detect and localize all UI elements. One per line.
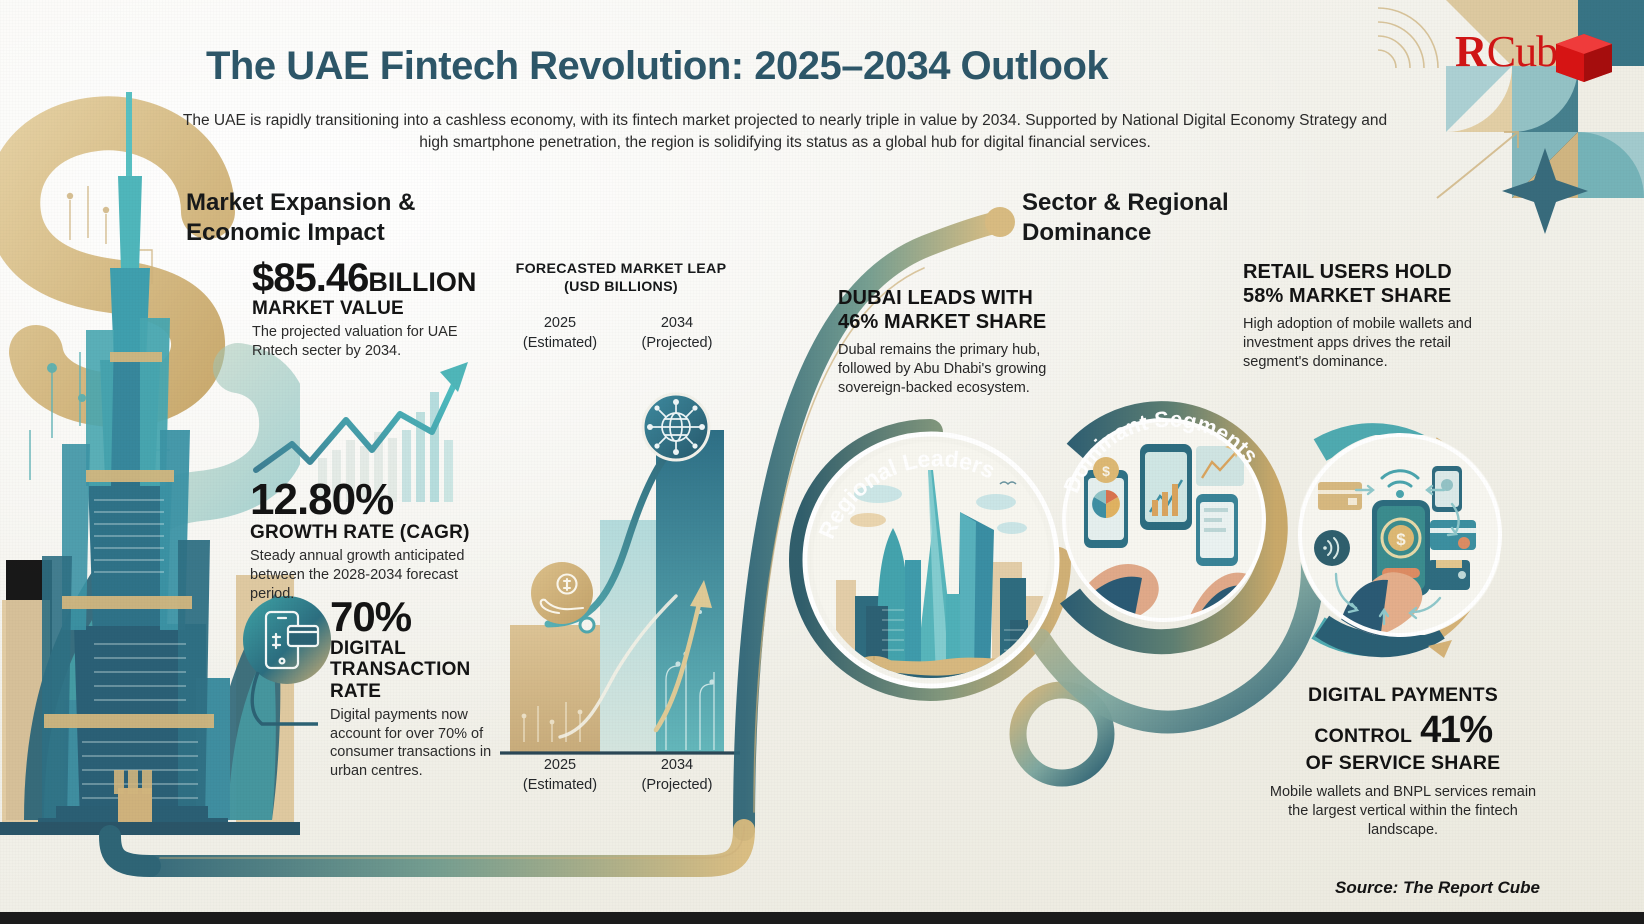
infographic-canvas: $ [0, 0, 1644, 924]
card-retail-users: RETAIL USERS HOLD 58% MARKET SHARE High … [1243, 260, 1493, 372]
chart-title: FORECASTED MARKET LEAP (USD BILLIONS) [500, 260, 742, 296]
stat-digital-rate-label-1: DIGITAL [330, 638, 520, 659]
red-cube-icon [1456, 26, 1626, 96]
bottom-bar [0, 912, 1644, 924]
ring-digital-payments: $ [1300, 435, 1500, 658]
card-payments-percent: 41% [1420, 709, 1492, 752]
chart-axis-label-2025: 2025 (Estimated) [500, 755, 620, 795]
coin-in-hand-icon [531, 562, 593, 624]
page-title: The UAE Fintech Revolution: 2025–2034 Ou… [206, 44, 1376, 89]
section-heading-market-expansion: Market Expansion & Economic Impact [186, 188, 516, 248]
stat-market-value-desc: The projected valuation for UAE Rntech s… [252, 323, 492, 361]
card-dubai-desc: Dubal remains the primary hub, followed … [838, 341, 1088, 398]
card-dubai-head-2: 46% MARKET SHARE [838, 310, 1088, 334]
ring-label-regional-leaders: Regional Leaders [813, 445, 999, 542]
card-dubai-market-share: DUBAI LEADS WITH 46% MARKET SHARE Dubal … [838, 286, 1088, 398]
svg-text:Regional Leaders: Regional Leaders [813, 445, 999, 542]
card-retail-desc: High adoption of mobile wallets and inve… [1243, 315, 1493, 372]
ring-regional-leaders [805, 434, 1057, 702]
stat-digital-rate-desc: Digital payments now account for over 70… [330, 706, 520, 781]
mobile-payment-icon [243, 596, 331, 724]
chart-top-label-2034: 2034 (Projected) [617, 313, 737, 353]
page-subtitle: The UAE is rapidly transitioning into a … [180, 110, 1390, 154]
stat-market-value: $85.46BILLION MARKET VALUE The projected… [252, 258, 492, 361]
stat-growth-rate: 12.80% GROWTH RATE (CAGR) Steady annual … [250, 478, 490, 604]
card-dubai-head-1: DUBAI LEADS WITH [838, 286, 1088, 310]
stat-digital-rate: 70% DIGITAL TRANSACTION RATE Digital pay… [330, 596, 520, 781]
svg-text:Dominant Segments: Dominant Segments [1059, 406, 1264, 496]
section-heading-sector-dominance: Sector & Regional Dominance [1022, 188, 1352, 248]
chart-title-line-1: FORECASTED MARKET LEAP [500, 260, 742, 278]
stat-digital-rate-number: 70% [330, 596, 520, 638]
global-network-icon [643, 394, 709, 460]
card-digital-payments: DIGITAL PAYMENTS CONTROL 41% OF SERVICE … [1258, 684, 1548, 840]
chart-axis-label-2034: 2034 (Projected) [617, 755, 737, 795]
svg-text:$: $ [1102, 463, 1110, 479]
card-payments-head-1: DIGITAL PAYMENTS [1258, 684, 1548, 707]
stat-growth-rate-label: GROWTH RATE (CAGR) [250, 522, 490, 543]
stat-market-value-number: $85.46BILLION [252, 258, 492, 298]
ring-dominant-segments: $ [1064, 414, 1275, 642]
ring-labels: Regional Leaders Dominant Segments [813, 406, 1264, 576]
stat-digital-rate-label-2: TRANSACTION RATE [330, 659, 520, 702]
stat-market-value-unit: BILLION [368, 267, 476, 297]
card-payments-desc: Mobile wallets and BNPL services remain … [1258, 783, 1548, 840]
card-payments-head-3: OF SERVICE SHARE [1258, 752, 1548, 775]
stat-growth-rate-number: 12.80% [250, 478, 490, 522]
card-payments-head-2: CONTROL 41% [1258, 709, 1548, 752]
brand-logo[interactable]: ЯCube [1456, 26, 1626, 96]
forecast-bar-chart [500, 428, 740, 753]
card-retail-head-1: RETAIL USERS HOLD [1243, 260, 1493, 284]
card-payments-control-word: CONTROL [1314, 725, 1412, 748]
svg-text:$: $ [1396, 530, 1406, 549]
stat-market-value-label: MARKET VALUE [252, 298, 492, 319]
chart-title-line-2: (USD BILLIONS) [500, 278, 742, 296]
card-retail-head-2: 58% MARKET SHARE [1243, 284, 1493, 308]
ring-label-dominant-segments: Dominant Segments [1059, 406, 1264, 496]
source-note: Source: The Report Cube [1335, 878, 1540, 898]
star-decor [1502, 148, 1588, 234]
chart-top-label-2025: 2025 (Estimated) [500, 313, 620, 353]
